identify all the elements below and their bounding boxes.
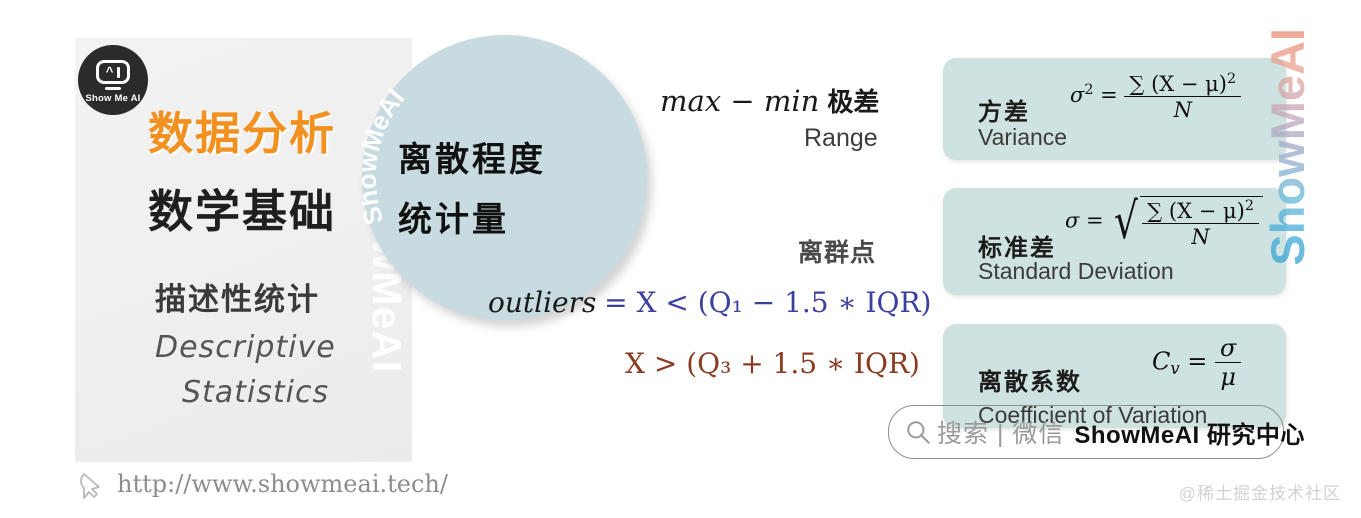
search-brand-result[interactable]: ShowMeAI 研究中心 [1074, 415, 1305, 450]
range-formula-row: max − min极差 [660, 82, 879, 119]
subtitle-english-line1: Descriptive [155, 330, 336, 365]
variance-numerator-sup: 2 [1227, 71, 1236, 87]
slide-canvas: ShowMeAI ^ Show Me AI 数据分析 数学基础 描述性统计 De… [0, 0, 1361, 518]
outlier-label-cn: 离群点 [798, 233, 876, 269]
circle-label-line1: 离散程度 [398, 132, 546, 181]
cv-symbol: C [1152, 348, 1170, 376]
outlier-equation-1: outliers = X < (Q₁ − 1.5 ∗ IQR) [488, 286, 931, 319]
title-secondary: 数学基础 [148, 175, 336, 240]
cv-numerator: σ [1215, 336, 1241, 363]
cv-equals: = [1187, 348, 1207, 376]
footer-credit: @稀土掘金技术社区 [1179, 479, 1341, 504]
variance-symbol: σ [1070, 83, 1084, 107]
outlier-eq1-lhs: outliers [488, 286, 596, 319]
card-cv-label-cn: 离散系数 [978, 362, 1082, 397]
std-symbol: σ [1065, 208, 1079, 232]
range-label-en: Range [804, 124, 878, 153]
sqrt-glyph: √ [1114, 196, 1138, 248]
variance-denominator: N [1169, 97, 1197, 121]
title-primary: 数据分析 [148, 97, 336, 162]
std-denominator: N [1186, 224, 1214, 248]
card-variance-formula: σ2 = ∑ (X − μ)2 N [1070, 72, 1241, 121]
std-equals: = [1086, 208, 1104, 232]
logo-bar-glyph [117, 67, 120, 78]
logo-neck-bar [105, 87, 121, 90]
cv-denominator: μ [1215, 363, 1241, 390]
std-numerator-wrap: ∑ (X − μ)2 [1142, 199, 1259, 224]
footer-url[interactable]: http://www.showmeai.tech/ [117, 470, 448, 498]
std-numerator: ∑ (X − μ) [1147, 199, 1245, 223]
search-placeholder: 搜索 | 微信 [937, 414, 1064, 450]
outlier-equation-2: X > (Q₃ + 1.5 ∗ IQR) [625, 347, 920, 380]
sqrt-radicand: ∑ (X − μ)2 N [1140, 196, 1263, 248]
showmeai-logo: ^ Show Me AI [78, 45, 148, 115]
range-label-cn: 极差 [827, 87, 879, 117]
robot-face-icon: ^ [96, 60, 130, 84]
variance-numerator-wrap: ∑ (X − μ)2 [1124, 72, 1241, 97]
circle-label-line2: 统计量 [398, 192, 509, 241]
subtitle-chinese: 描述性统计 [155, 274, 320, 319]
cv-symbol-sub: v [1170, 359, 1179, 378]
variance-numerator: ∑ (X − μ) [1129, 72, 1227, 96]
sqrt-icon: √ ∑ (X − μ)2 N [1110, 196, 1263, 248]
variance-fraction: ∑ (X − μ)2 N [1124, 72, 1241, 121]
cv-fraction: σ μ [1215, 336, 1241, 390]
variance-equals: = [1100, 83, 1118, 107]
search-icon[interactable] [905, 419, 931, 445]
cursor-pointer-icon [76, 470, 108, 502]
logo-caret-glyph: ^ [106, 65, 114, 78]
edge-watermark: ShowMeAI [1260, 28, 1315, 266]
outlier-eq1-rhs: = X < (Q₁ − 1.5 ∗ IQR) [604, 286, 931, 319]
card-cv-formula: Cv = σ μ [1152, 336, 1241, 390]
logo-label: Show Me AI [86, 93, 141, 104]
card-std-label-en: Standard Deviation [978, 258, 1174, 285]
card-variance-label-en: Variance [978, 124, 1067, 151]
subtitle-english-line2: Statistics [182, 375, 329, 410]
card-std-formula: σ = √ ∑ (X − μ)2 N [1065, 196, 1263, 248]
variance-symbol-sup: 2 [1084, 82, 1093, 98]
std-numerator-sup: 2 [1245, 198, 1254, 214]
card-variance-label-cn: 方差 [978, 92, 1030, 127]
std-fraction: ∑ (X − μ)2 N [1142, 199, 1259, 248]
search-bar[interactable]: 搜索 | 微信 ShowMeAI 研究中心 [888, 405, 1284, 459]
range-formula: max − min [660, 84, 819, 118]
